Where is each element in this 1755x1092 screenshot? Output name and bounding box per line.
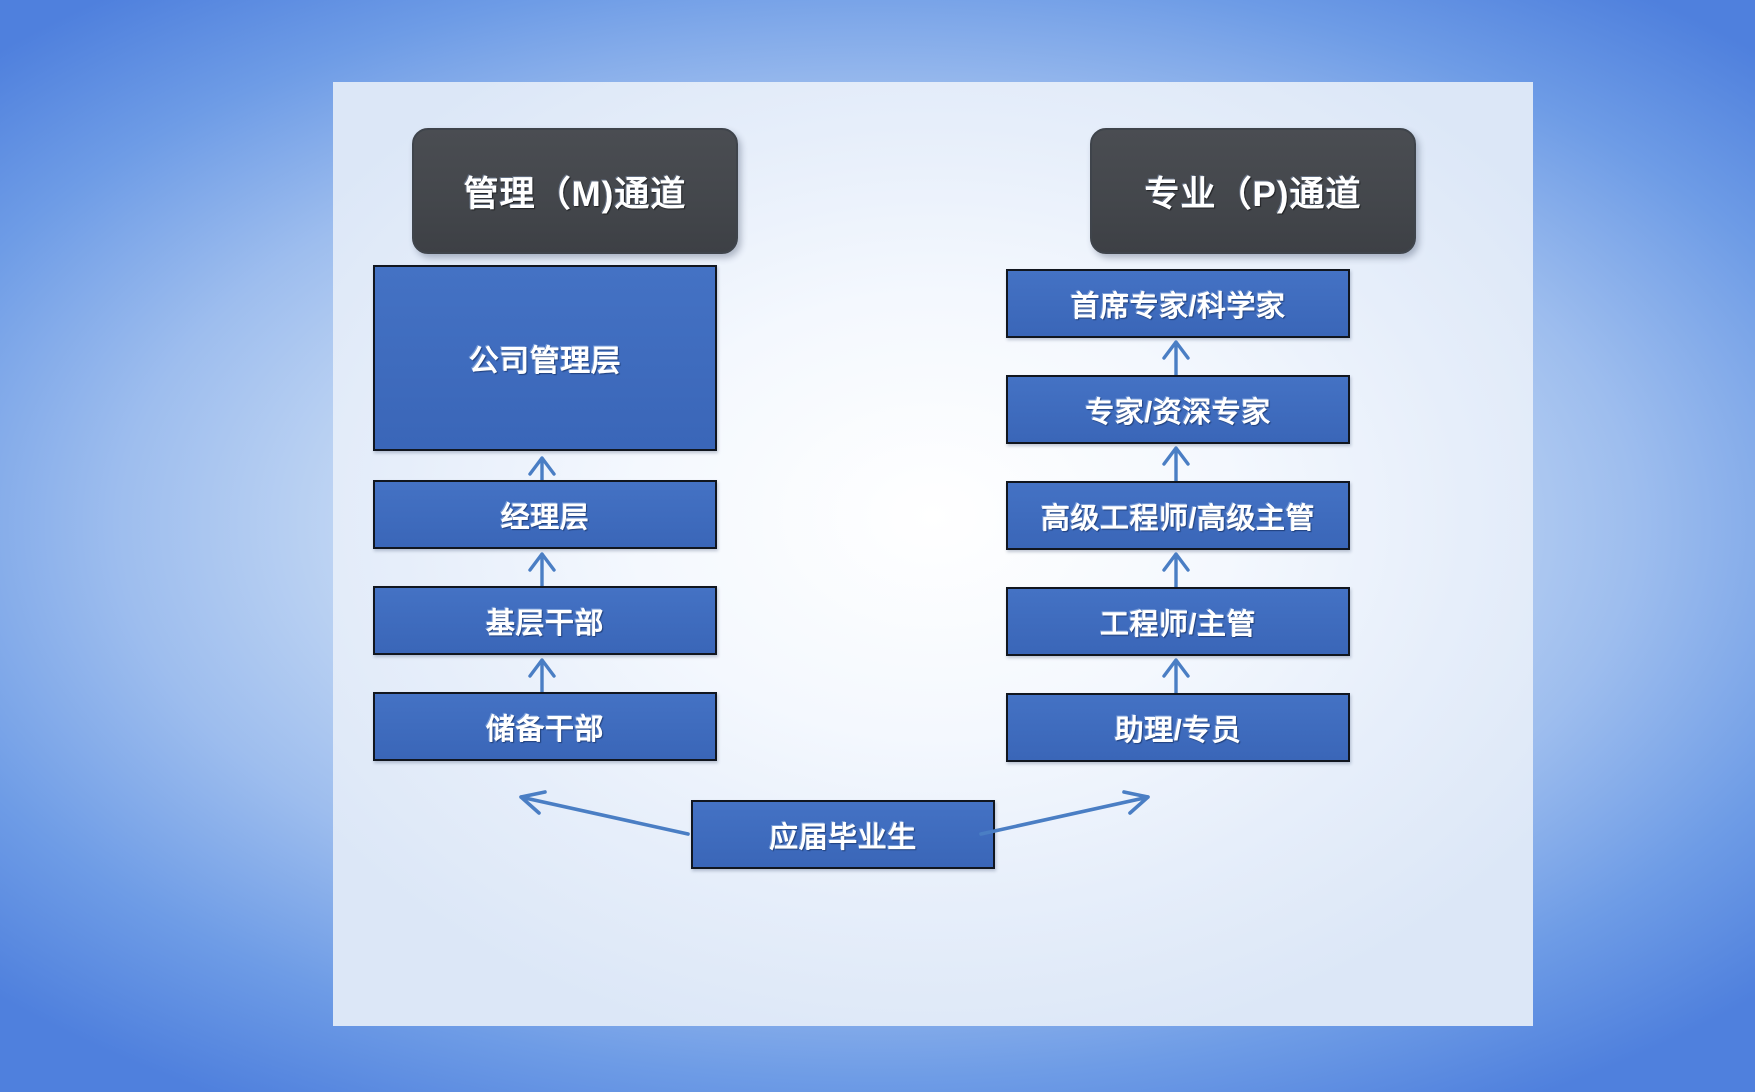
- node-label: 高级工程师/高级主管: [1041, 495, 1315, 537]
- node-label: 专家/资深专家: [1085, 389, 1271, 431]
- node-label: 公司管理层: [469, 336, 622, 380]
- arrow-up-right-icon: [976, 782, 1166, 842]
- diagram-panel: 管理（M)通道 专业（P)通道 公司管理层 经理层 基层干部 储备干部 首席: [333, 82, 1533, 1026]
- node-professional-level-5[interactable]: 首席专家/科学家: [1006, 269, 1350, 338]
- channel-header-professional[interactable]: 专业（P)通道: [1090, 128, 1416, 254]
- node-management-level-3[interactable]: 经理层: [373, 480, 717, 549]
- node-label: 应届毕业生: [769, 814, 917, 856]
- node-management-level-1[interactable]: 储备干部: [373, 692, 717, 761]
- node-label: 储备干部: [486, 706, 604, 748]
- node-professional-level-1[interactable]: 助理/专员: [1006, 693, 1350, 762]
- node-label: 经理层: [501, 494, 590, 536]
- node-label: 工程师/主管: [1100, 601, 1256, 643]
- diagram-canvas: 管理（M)通道 专业（P)通道 公司管理层 经理层 基层干部 储备干部 首席: [0, 0, 1755, 1092]
- channel-header-management[interactable]: 管理（M)通道: [412, 128, 738, 254]
- node-entry-graduate[interactable]: 应届毕业生: [691, 800, 995, 869]
- channel-header-professional-label: 专业（P)通道: [1144, 166, 1361, 217]
- arrow-up-left-icon: [503, 782, 693, 842]
- node-professional-level-4[interactable]: 专家/资深专家: [1006, 375, 1350, 444]
- node-label: 助理/专员: [1115, 707, 1242, 749]
- node-professional-level-3[interactable]: 高级工程师/高级主管: [1006, 481, 1350, 550]
- node-label: 首席专家/科学家: [1070, 283, 1285, 325]
- node-management-level-4[interactable]: 公司管理层: [373, 265, 717, 451]
- channel-header-management-label: 管理（M)通道: [464, 166, 687, 217]
- node-professional-level-2[interactable]: 工程师/主管: [1006, 587, 1350, 656]
- node-management-level-2[interactable]: 基层干部: [373, 586, 717, 655]
- node-label: 基层干部: [486, 600, 604, 642]
